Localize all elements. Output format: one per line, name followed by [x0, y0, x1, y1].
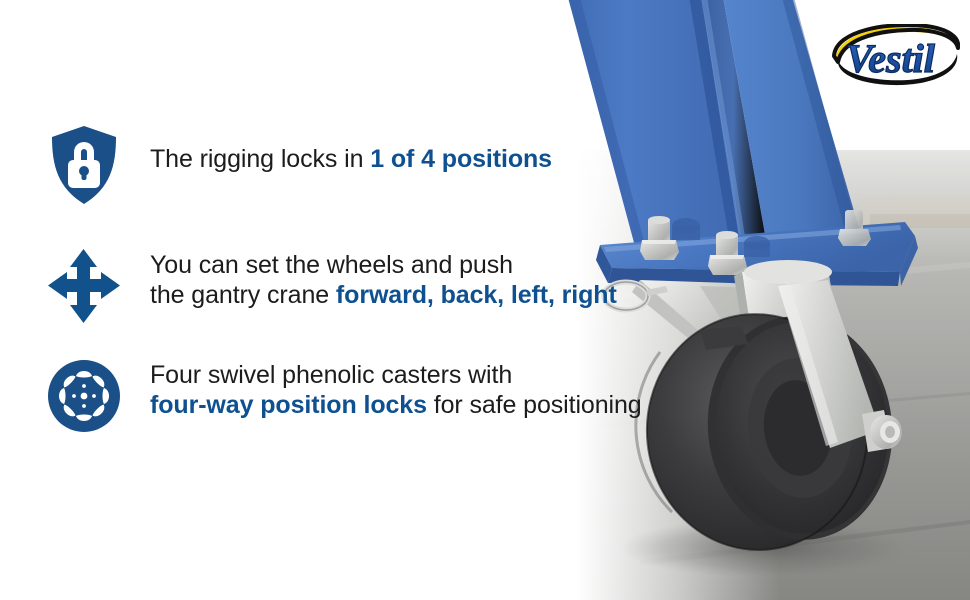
- feature-line: Four swivel phenolic casters with: [150, 360, 642, 390]
- four-way-arrows-icon: [44, 244, 124, 328]
- feature-text-highlight: 1 of 4 positions: [370, 145, 552, 173]
- shield-lock-icon: [44, 122, 124, 210]
- vestil-logo: Vestil: [828, 24, 960, 86]
- logo-wordmark: Vestil: [846, 36, 936, 81]
- feature-text-plain: Four swivel phenolic casters with: [150, 361, 512, 389]
- feature-text-plain: the gantry crane: [150, 281, 336, 309]
- feature-line: You can set the wheels and push: [150, 250, 617, 280]
- feature-text-plain: for safe positioning: [427, 391, 642, 419]
- feature-text-rigging-locks: The rigging locks in 1 of 4 positions: [124, 122, 552, 174]
- axle-bolt: [870, 415, 902, 449]
- caster-wheel-icon: [44, 352, 124, 440]
- feature-text-highlight: forward, back, left, right: [336, 281, 617, 309]
- feature-text-plain: You can set the wheels and push: [150, 251, 513, 279]
- feature-row-push-directions: You can set the wheels and push the gant…: [44, 244, 617, 328]
- feature-line: The rigging locks in 1 of 4 positions: [150, 144, 552, 174]
- feature-line: the gantry crane forward, back, left, ri…: [150, 280, 617, 310]
- feature-text-swivel-casters: Four swivel phenolic casters with four-w…: [124, 352, 642, 420]
- feature-text-plain: The rigging locks in: [150, 145, 370, 173]
- feature-row-rigging-locks: The rigging locks in 1 of 4 positions: [44, 122, 552, 210]
- feature-text-push-directions: You can set the wheels and push the gant…: [124, 244, 617, 310]
- feature-row-swivel-casters: Four swivel phenolic casters with four-w…: [44, 352, 642, 440]
- feature-text-highlight: four-way position locks: [150, 391, 427, 419]
- infographic-canvas: Vestil The rigging locks in 1 of 4 posit…: [0, 0, 970, 600]
- feature-line: four-way position locks for safe positio…: [150, 390, 642, 420]
